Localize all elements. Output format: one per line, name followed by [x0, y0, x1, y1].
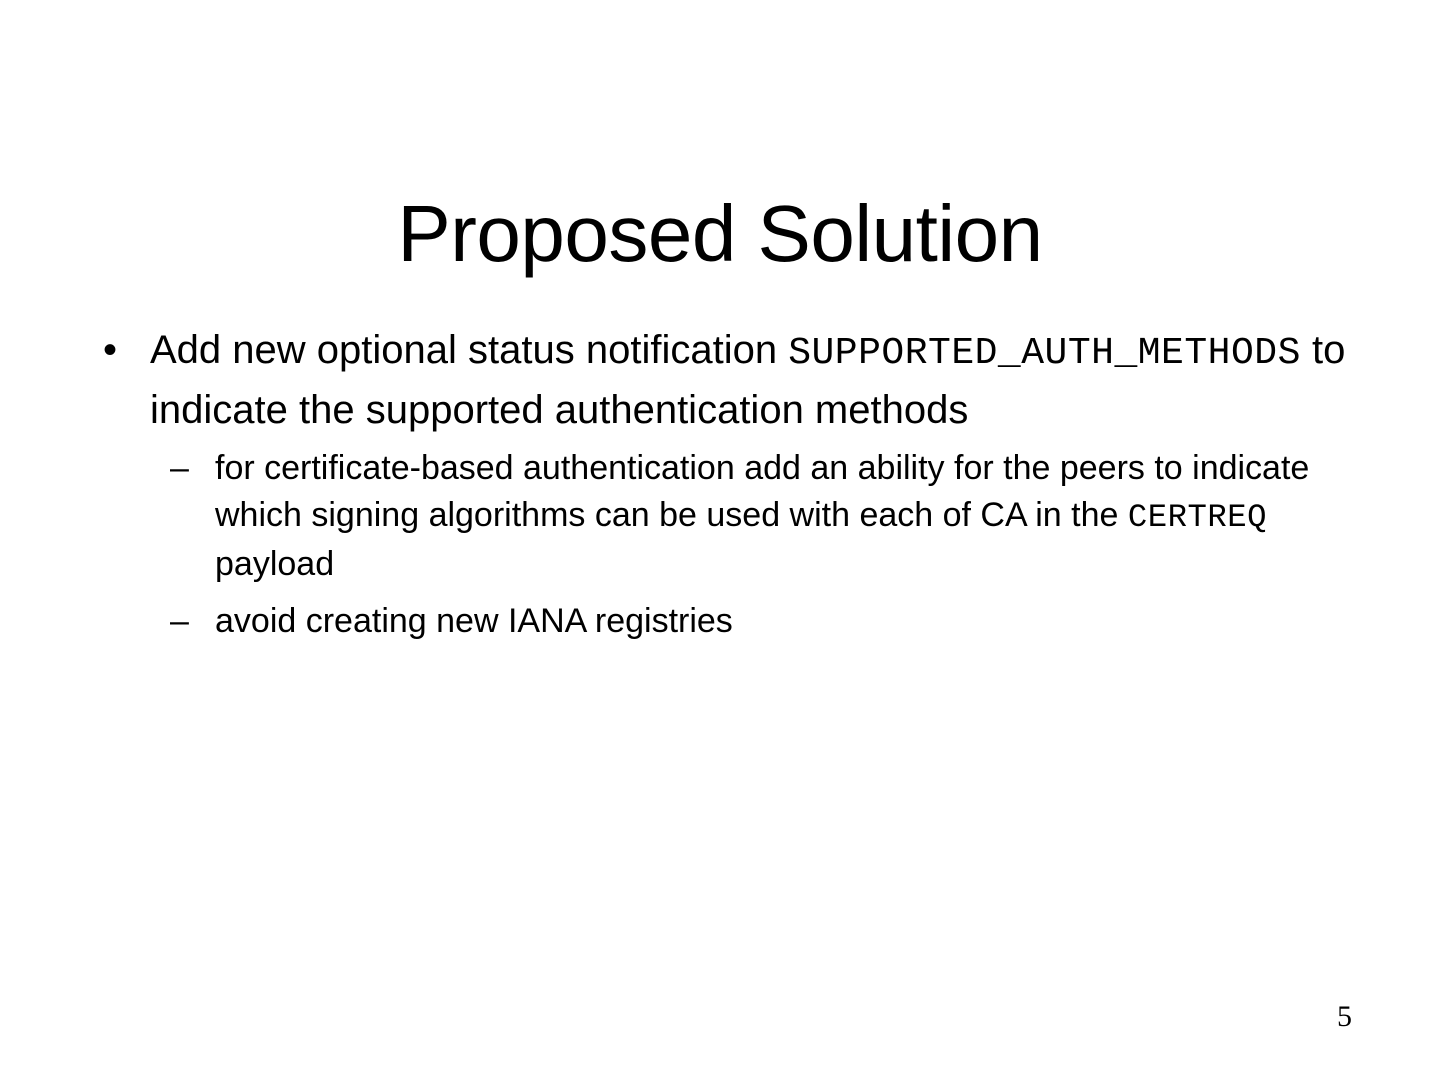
- slide-number: 5: [1337, 1002, 1352, 1032]
- bullet-level1-text: Add new optional status notification SUP…: [150, 322, 1350, 439]
- bullet-marker-dash: –: [170, 598, 189, 645]
- bullet-level2: – avoid creating new IANA registries: [90, 598, 1350, 645]
- bullet-level1: • Add new optional status notification S…: [90, 322, 1350, 439]
- bullet-segment-text: payload: [215, 545, 334, 583]
- bullet-marker-dash: –: [170, 445, 189, 492]
- bullet-segment-text: Add new optional status notification: [150, 328, 788, 372]
- bullet-segment-code-certreq: CERTREQ: [1128, 499, 1267, 536]
- bullet-marker-dot: •: [103, 322, 117, 379]
- bullet-level2-text: for certificate-based authentication add…: [215, 445, 1350, 588]
- sub-bullet-list: – for certificate-based authentication a…: [90, 445, 1350, 645]
- page-title: Proposed Solution: [0, 194, 1440, 274]
- bullet-segment-code-supported-auth-methods: SUPPORTED_AUTH_METHODS: [788, 332, 1301, 375]
- slide-body: • Add new optional status notification S…: [90, 322, 1350, 655]
- bullet-segment-text: avoid creating new IANA registries: [215, 602, 733, 640]
- bullet-level2-text: avoid creating new IANA registries: [215, 598, 1350, 645]
- slide-canvas: Proposed Solution • Add new optional sta…: [0, 0, 1440, 1080]
- bullet-level2: – for certificate-based authentication a…: [90, 445, 1350, 588]
